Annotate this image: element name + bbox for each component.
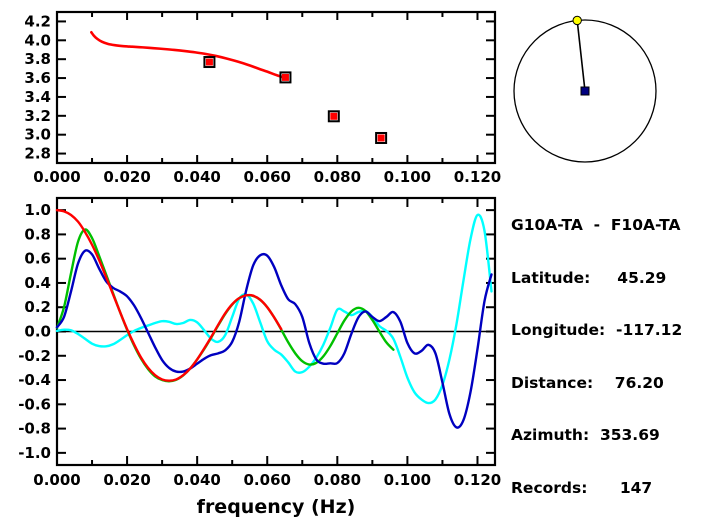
x-tick-label: 0.020 (103, 168, 150, 186)
x-tick-label: 0.080 (314, 471, 361, 489)
data-point-marker (378, 134, 385, 141)
x-tick-label: 0.120 (454, 168, 501, 186)
green-curve (57, 229, 393, 381)
y-tick-label: 3.8 (24, 50, 51, 68)
azimuth-row: Azimuth: 353.69 (511, 427, 702, 445)
x-tick-label: 0.080 (314, 168, 361, 186)
x-tick-label: 0.000 (33, 168, 80, 186)
records-row: Records: 147 (511, 480, 702, 498)
x-tick-label: 0.100 (384, 471, 431, 489)
cyan-curve (57, 215, 492, 403)
y-tick-label: -1.0 (18, 444, 51, 462)
station-pair-title: G10A-TA - F10A-TA (511, 217, 702, 235)
y-tick-label: -0.8 (18, 420, 51, 438)
y-tick-label: -0.2 (18, 347, 51, 365)
azimuth-ray (577, 20, 585, 91)
plot-window: 0.0000.0200.0400.0600.0800.1000.1202.83.… (0, 0, 702, 519)
x-tick-label: 0.060 (244, 471, 291, 489)
dispersion-curve (91, 32, 284, 77)
y-tick-label: 3.0 (24, 126, 51, 144)
longitude-row: Longitude: -117.12 (511, 322, 702, 340)
distance-row: Distance: 76.20 (511, 375, 702, 393)
x-tick-label: 0.060 (244, 168, 291, 186)
y-tick-label: 4.2 (24, 12, 51, 30)
y-tick-label: 3.4 (24, 88, 51, 106)
y-tick-label: 0.0 (24, 323, 51, 341)
y-tick-label: -0.6 (18, 395, 51, 413)
x-tick-label: 0.120 (454, 471, 501, 489)
y-tick-label: 2.8 (24, 145, 51, 163)
y-tick-label: 4.0 (24, 31, 51, 49)
x-tick-label: 0.000 (33, 471, 80, 489)
y-tick-label: 0.4 (24, 274, 51, 292)
data-point-marker (330, 113, 337, 120)
azimuth-diagram (511, 5, 701, 180)
y-tick-label: 0.2 (24, 298, 51, 316)
station-info-panel: G10A-TA - F10A-TA Latitude: 45.29 Longit… (511, 182, 702, 532)
cross-correlation-plot: 0.0000.0200.0400.0600.0800.1000.120-1.0-… (0, 193, 510, 518)
y-tick-label: 0.8 (24, 225, 51, 243)
y-tick-label: 3.2 (24, 107, 51, 125)
x-tick-label: 0.040 (173, 168, 220, 186)
plot-frame (57, 12, 495, 163)
station-marker-blue-square (581, 87, 589, 95)
x-tick-label: 0.020 (103, 471, 150, 489)
latitude-row: Latitude: 45.29 (511, 270, 702, 288)
y-tick-label: 1.0 (24, 201, 51, 219)
x-axis-label: frequency (Hz) (197, 496, 356, 518)
y-tick-label: 3.6 (24, 69, 51, 87)
event-marker-yellow-dot (573, 16, 581, 24)
data-point-marker (282, 74, 289, 81)
dispersion-plot: 0.0000.0200.0400.0600.0800.1000.1202.83.… (0, 0, 510, 190)
x-tick-label: 0.100 (384, 168, 431, 186)
data-point-marker (206, 59, 213, 66)
x-tick-label: 0.040 (173, 471, 220, 489)
y-tick-label: 0.6 (24, 250, 51, 268)
y-tick-label: -0.4 (18, 371, 51, 389)
